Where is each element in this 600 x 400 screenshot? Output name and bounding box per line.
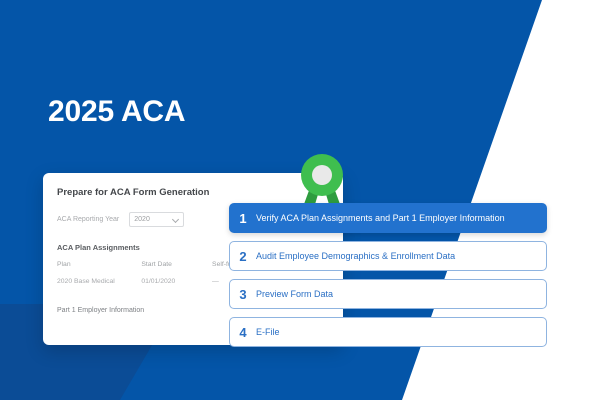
chevron-down-icon: [173, 217, 179, 223]
step-item-2[interactable]: 2 Audit Employee Demographics & Enrollme…: [229, 241, 547, 271]
promo-banner: 2025 ACA Best Practices Prepare for ACA …: [0, 0, 600, 400]
step-item-4[interactable]: 4 E-File: [229, 317, 547, 347]
step-label-3: Preview Form Data: [256, 289, 333, 299]
step-label-4: E-File: [256, 327, 280, 337]
step-number-2: 2: [230, 249, 256, 264]
step-item-3[interactable]: 3 Preview Form Data: [229, 279, 547, 309]
reporting-year-select[interactable]: 2020: [129, 212, 184, 227]
cell-plan: 2020 Base Medical: [57, 277, 141, 287]
page-title-line-1: 2025 ACA: [48, 92, 252, 132]
step-item-1[interactable]: 1 Verify ACA Plan Assignments and Part 1…: [229, 203, 547, 233]
card-title: Prepare for ACA Form Generation: [57, 187, 329, 198]
step-number-1: 1: [230, 211, 256, 226]
column-header-plan: Plan: [57, 261, 141, 277]
steps-list: 1 Verify ACA Plan Assignments and Part 1…: [229, 203, 547, 355]
step-number-4: 4: [230, 325, 256, 340]
reporting-year-label: ACA Reporting Year: [57, 216, 119, 223]
cell-start-date: 01/01/2020: [141, 277, 212, 287]
column-header-start-date: Start Date: [141, 261, 212, 277]
step-number-3: 3: [230, 287, 256, 302]
step-label-2: Audit Employee Demographics & Enrollment…: [256, 251, 455, 261]
reporting-year-value: 2020: [134, 216, 150, 223]
step-label-1: Verify ACA Plan Assignments and Part 1 E…: [256, 213, 505, 223]
